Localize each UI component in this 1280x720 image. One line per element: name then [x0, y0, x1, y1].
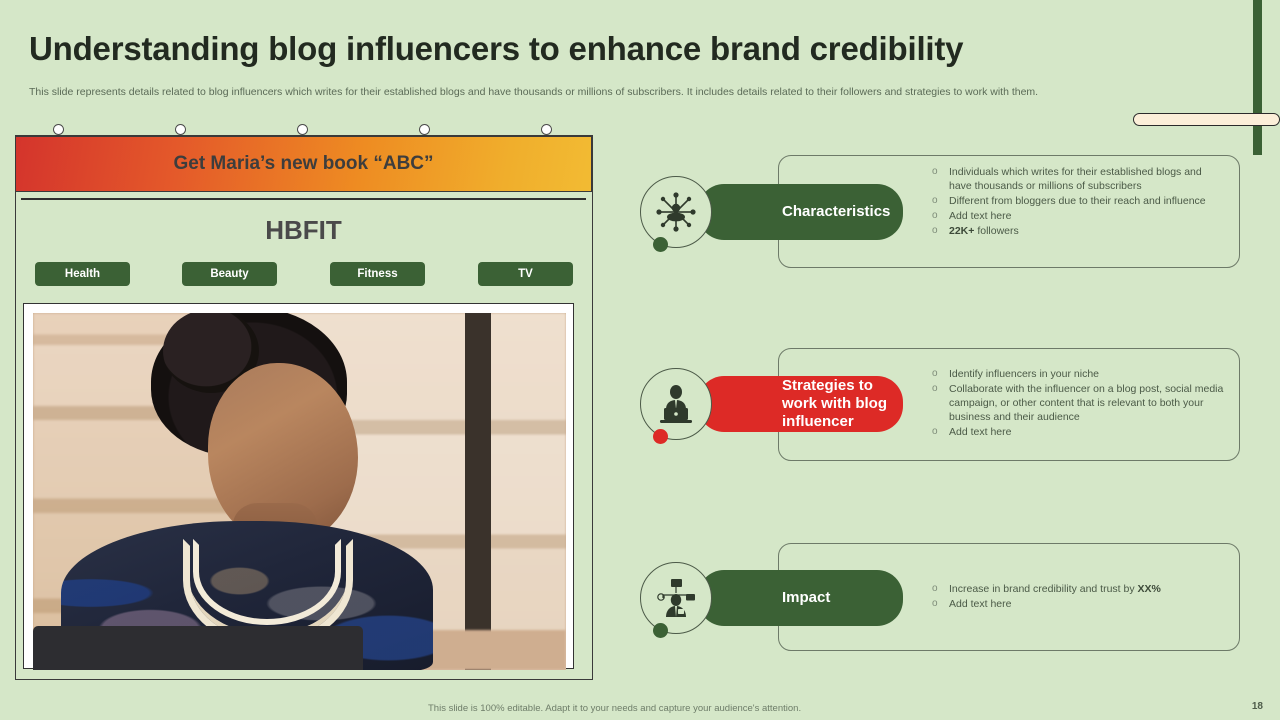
section-nub-impact [653, 623, 668, 638]
person-network-hierarchy-icon [653, 576, 699, 620]
brand-name: HBFIT [15, 215, 592, 246]
section-icon-circle-strategies [640, 368, 712, 440]
list-item: Identify influencers in your niche [932, 368, 1227, 382]
banner-connector-dot [53, 124, 64, 135]
list-item: Add text here [932, 426, 1227, 440]
photo-frame [23, 303, 574, 669]
list-item: Collaborate with the influencer on a blo… [932, 383, 1227, 425]
list-item: Add text here [932, 598, 1232, 612]
list-item: Different from bloggers due to their rea… [932, 195, 1222, 209]
followers-count: 22K+ [949, 225, 974, 237]
bullet-list-impact: Increase in brand credibility and trust … [932, 583, 1232, 613]
banner-connector-dot [541, 124, 552, 135]
tag-health[interactable]: Health [35, 262, 130, 286]
card-divider [21, 198, 586, 200]
promo-banner: Get Maria’s new book “ABC” [15, 136, 592, 192]
slide-canvas: Understanding blog influencers to enhanc… [0, 0, 1280, 720]
footer-note: This slide is 100% editable. Adapt it to… [428, 703, 801, 714]
impact-percent: XX% [1138, 583, 1161, 595]
section-icon-circle-impact [640, 562, 712, 634]
bullet-list-characteristics: Individuals which writes for their estab… [932, 166, 1222, 240]
decorative-vertical-bar [1253, 0, 1262, 155]
section-nub-characteristics [653, 237, 668, 252]
section-label-strategies: Strategies to work with blog influencer [782, 377, 903, 430]
section-nub-strategies [653, 429, 668, 444]
banner-connector-dot [175, 124, 186, 135]
banner-connector-dot [297, 124, 308, 135]
section-label-impact: Impact [782, 589, 830, 607]
banner-connector-dot [419, 124, 430, 135]
category-tag-list: Health Beauty Fitness TV [15, 262, 592, 286]
list-item: Individuals which writes for their estab… [932, 166, 1222, 194]
section-pill-characteristics[interactable]: Characteristics [698, 184, 903, 240]
page-number: 18 [1252, 701, 1263, 712]
list-item: Add text here [932, 210, 1222, 224]
section-pill-impact[interactable]: Impact [698, 570, 903, 626]
influencer-photo [33, 313, 566, 670]
person-laptop-icon [655, 383, 697, 425]
section-icon-circle-characteristics [640, 176, 712, 248]
bullet-list-strategies: Identify influencers in your niche Colla… [932, 368, 1227, 441]
tag-tv[interactable]: TV [478, 262, 573, 286]
section-label-characteristics: Characteristics [782, 203, 890, 221]
tag-fitness[interactable]: Fitness [330, 262, 425, 286]
list-item: Increase in brand credibility and trust … [932, 583, 1232, 597]
tag-beauty[interactable]: Beauty [182, 262, 277, 286]
decorative-horizontal-pill [1133, 113, 1280, 126]
list-item: 22K+ followers [932, 225, 1222, 239]
promo-banner-title: Get Maria’s new book “ABC” [173, 153, 433, 175]
page-title: Understanding blog influencers to enhanc… [29, 30, 963, 68]
section-pill-strategies[interactable]: Strategies to work with blog influencer [698, 376, 903, 432]
page-subtitle: This slide represents details related to… [29, 86, 1199, 98]
network-person-icon [653, 189, 699, 235]
